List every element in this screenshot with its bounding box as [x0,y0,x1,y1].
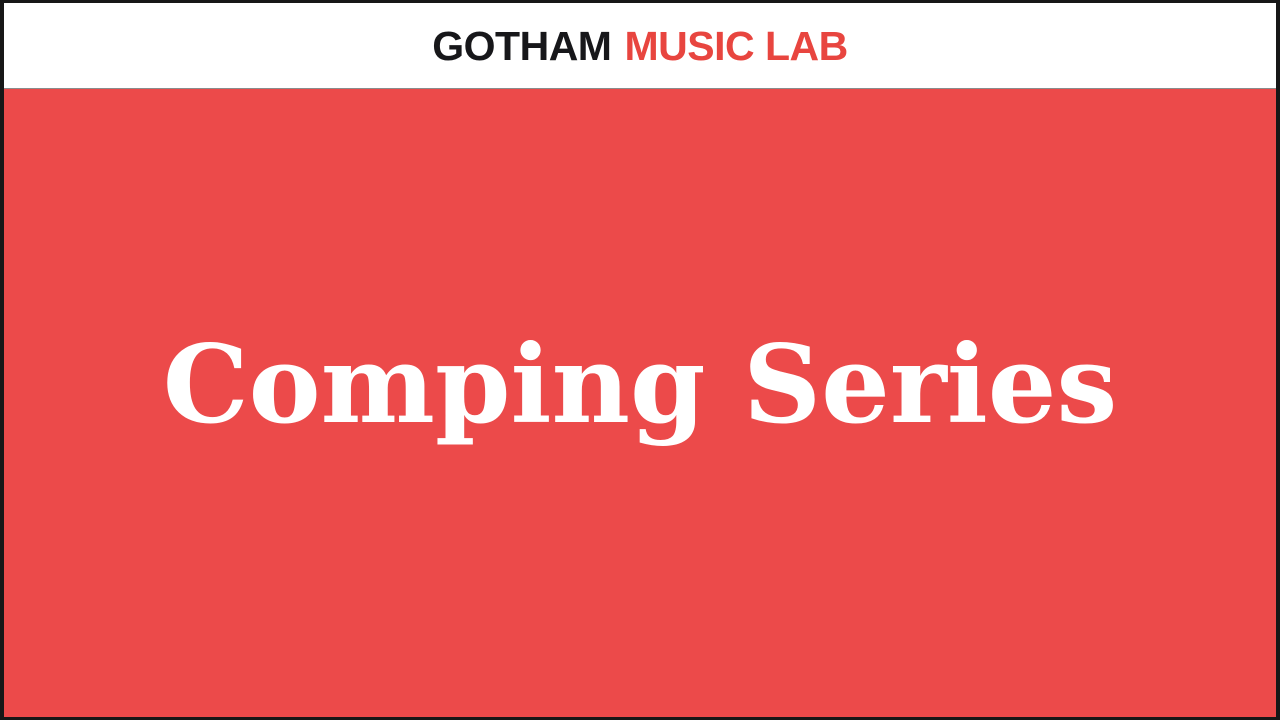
logo-brand-text: GOTHAM [432,26,611,67]
title-card-slide: GOTHAM MUSIC LAB Comping Series [0,0,1280,720]
slide-body-panel: Comping Series [0,89,1280,720]
slide-title: Comping Series [163,329,1118,442]
header-band: GOTHAM MUSIC LAB [0,0,1280,89]
logo-accent-text: MUSIC LAB [624,26,847,67]
gotham-music-lab-logo: GOTHAM MUSIC LAB [432,26,847,67]
